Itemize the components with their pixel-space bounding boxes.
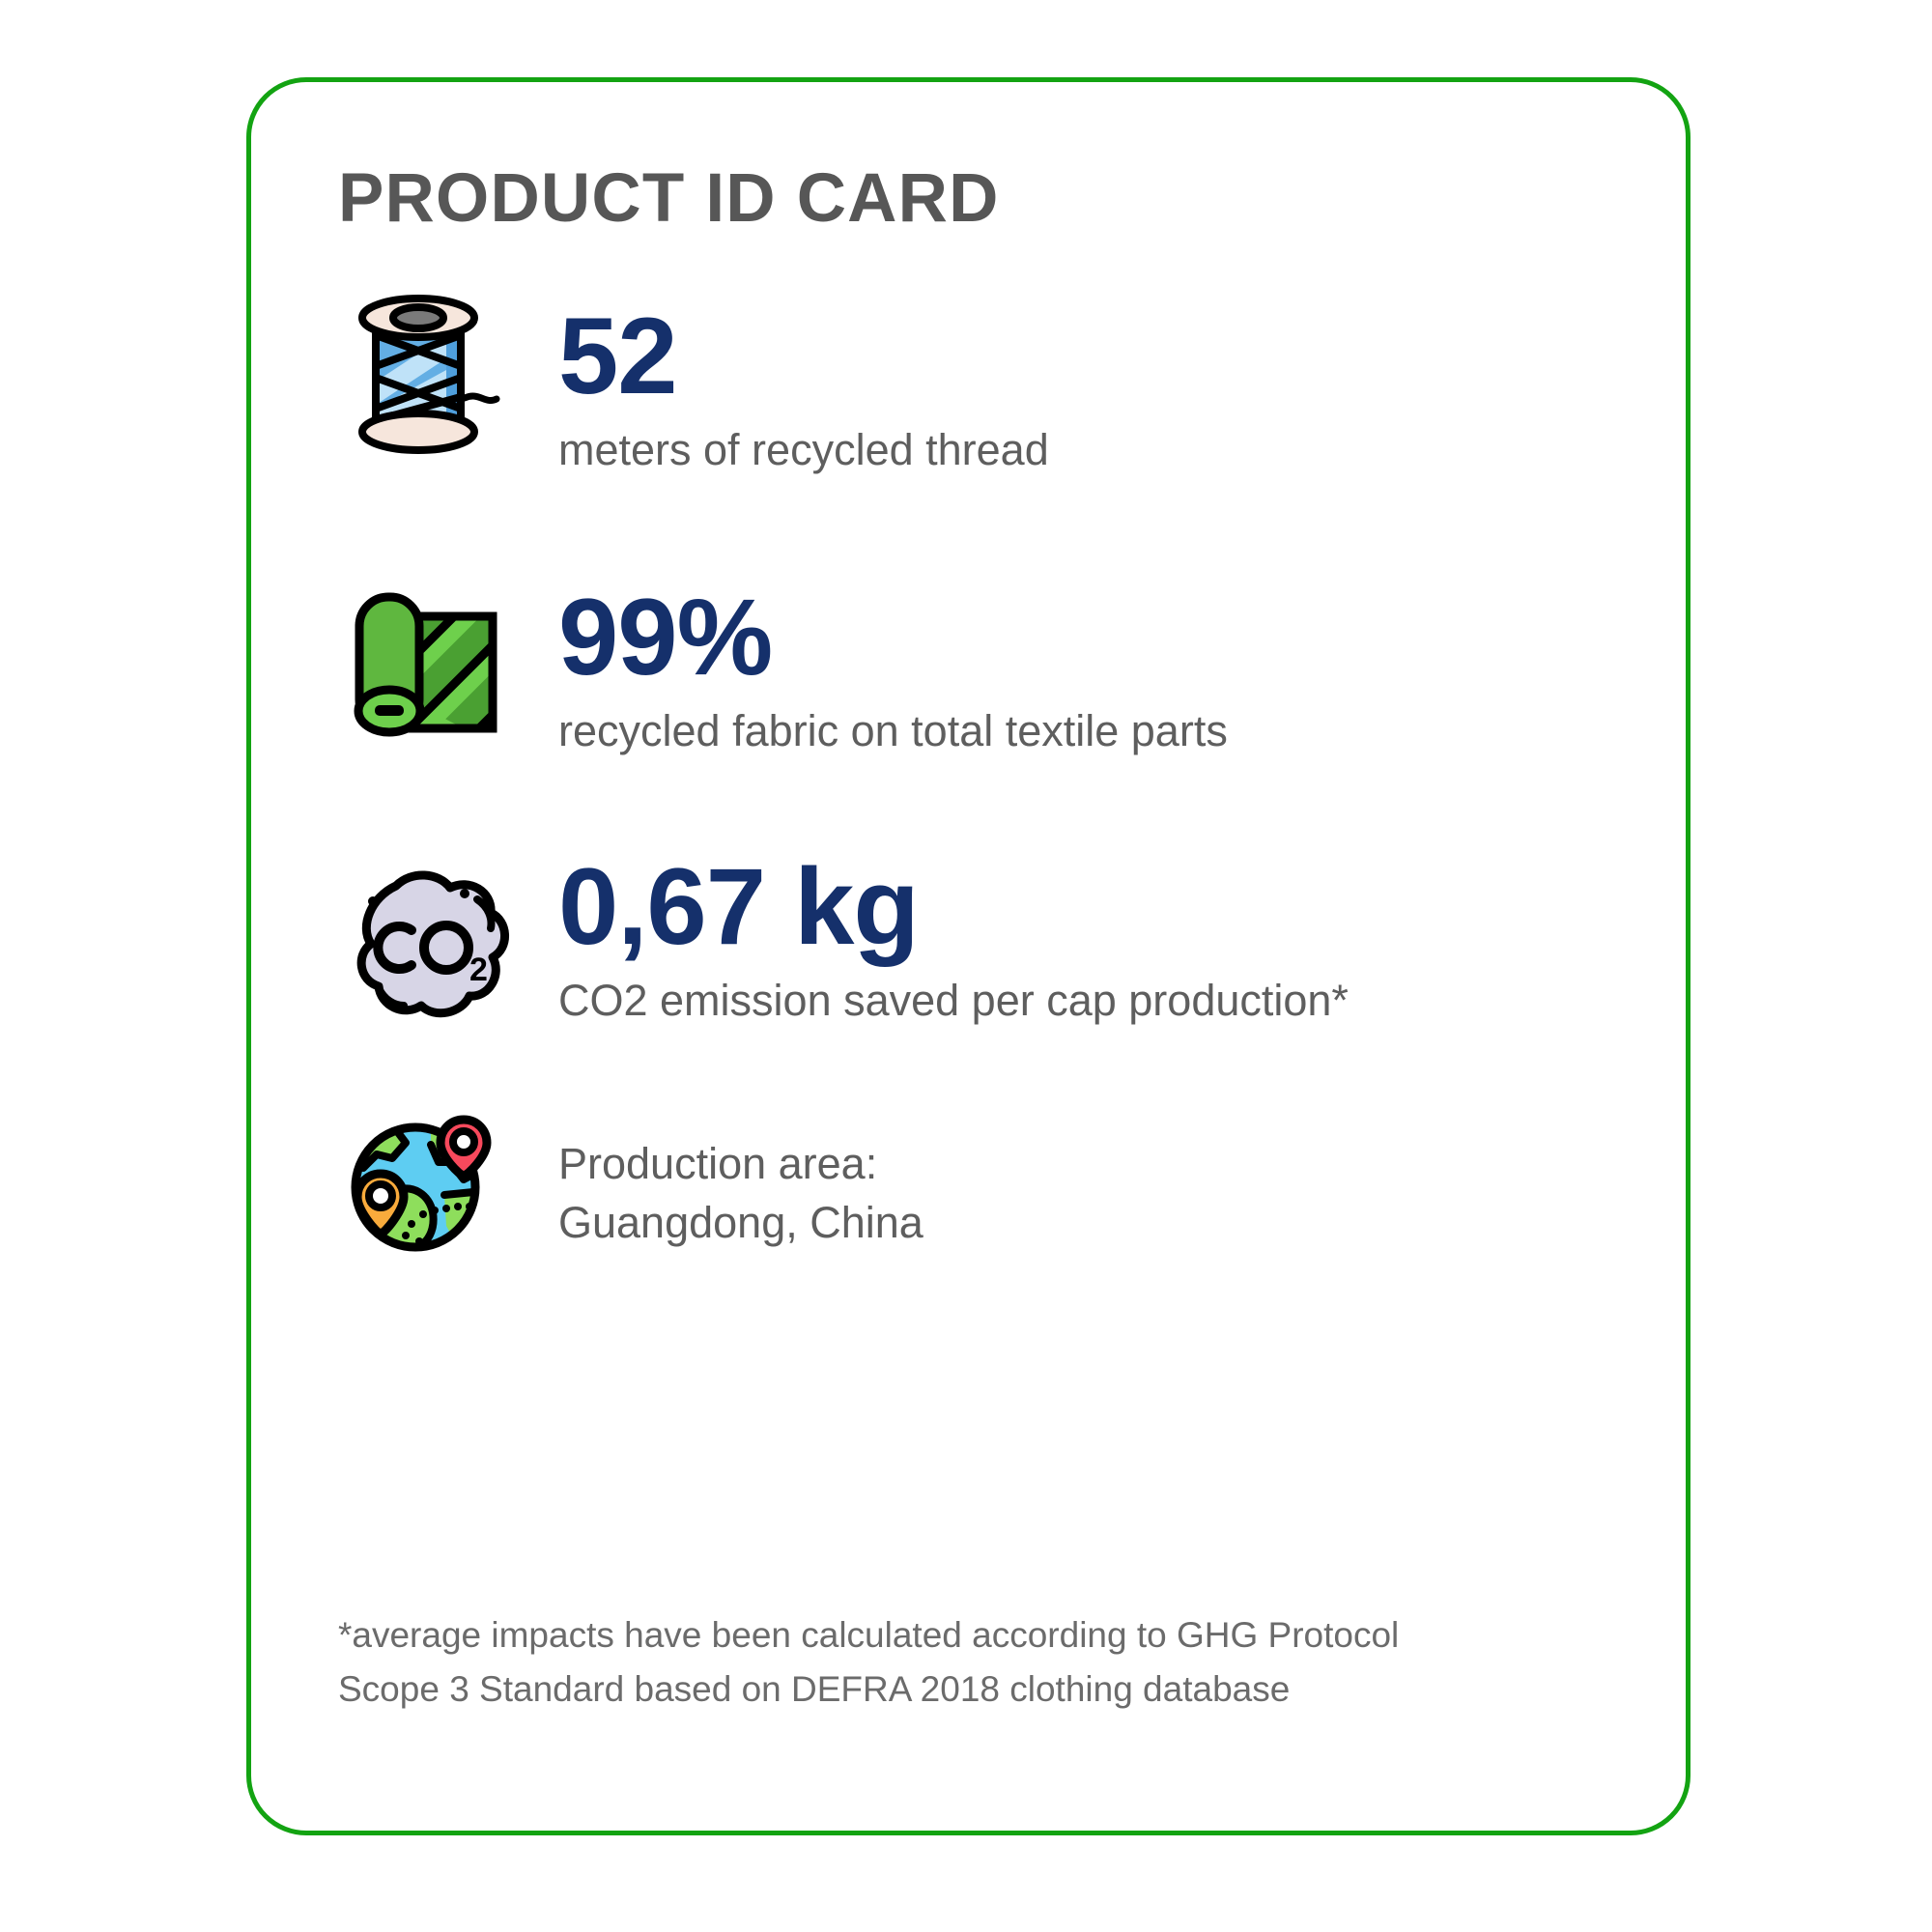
svg-text:2: 2 <box>469 952 488 988</box>
fabric-label: recycled fabric on total textile parts <box>558 705 1228 756</box>
stat-row-location: Production area: Guangdong, China <box>338 1106 923 1267</box>
thread-label: meters of recycled thread <box>558 424 1049 475</box>
stat-row-thread: 52 meters of recycled thread <box>338 285 1049 475</box>
screenshot-root: PRODUCT ID CARD <box>0 0 1932 1932</box>
location-line-1: Production area: <box>558 1135 923 1194</box>
location-text-block: Production area: Guangdong, China <box>558 1106 923 1253</box>
co2-text-block: 0,67 kg CO2 emission saved per cap produ… <box>558 845 1349 1026</box>
globe-pins-icon <box>338 1098 517 1267</box>
co2-cloud-icon: 2 <box>338 863 517 1032</box>
co2-value: 0,67 kg <box>558 853 1349 961</box>
location-line-2: Guangdong, China <box>558 1194 923 1253</box>
footnote-line-1: *average impacts have been calculated ac… <box>338 1608 1459 1662</box>
stat-row-fabric: 99% recycled fabric on total textile par… <box>338 570 1228 756</box>
thread-value: 52 <box>558 302 1049 411</box>
footnote: *average impacts have been calculated ac… <box>338 1608 1459 1717</box>
fabric-text-block: 99% recycled fabric on total textile par… <box>558 570 1228 756</box>
fabric-roll-icon <box>338 580 517 749</box>
co2-label: CO2 emission saved per cap production* <box>558 975 1349 1026</box>
footnote-line-2: Scope 3 Standard based on DEFRA 2018 clo… <box>338 1662 1459 1717</box>
thread-text-block: 52 meters of recycled thread <box>558 285 1049 475</box>
product-id-card: PRODUCT ID CARD <box>246 77 1690 1835</box>
page-title: PRODUCT ID CARD <box>338 159 1000 238</box>
thread-spool-icon <box>338 285 517 464</box>
fabric-value: 99% <box>558 583 1228 692</box>
stat-row-co2: 2 0,67 kg CO2 emission saved per cap pro… <box>338 845 1349 1032</box>
